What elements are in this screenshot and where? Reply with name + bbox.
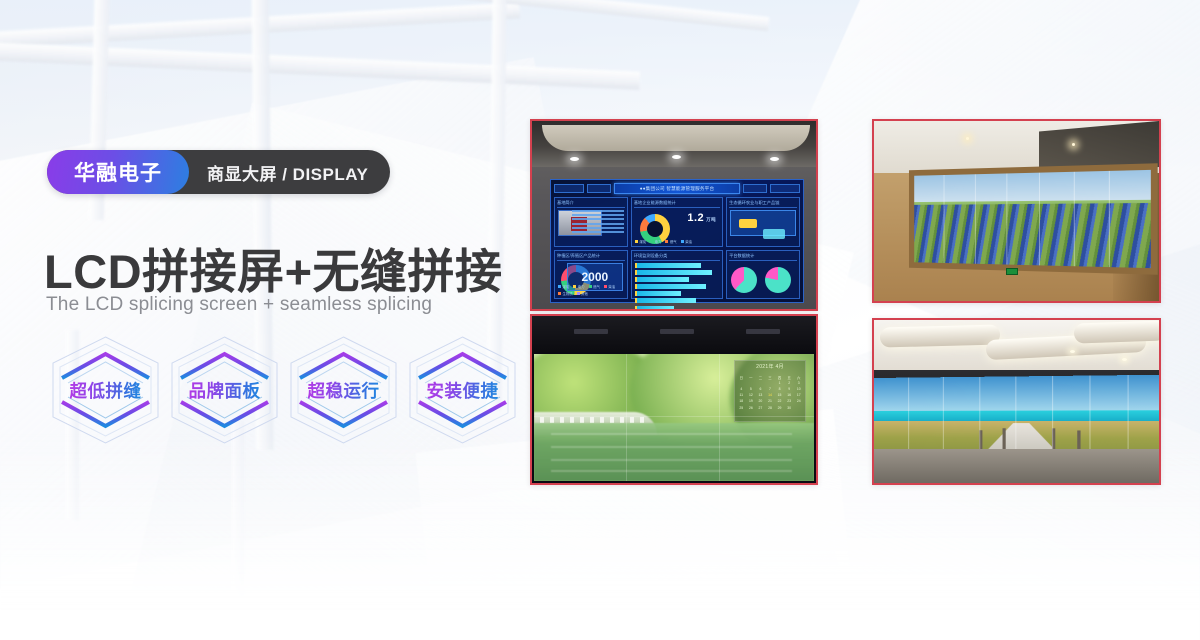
panel-seam: [534, 416, 814, 417]
card-caption: 生态循环农业与职工产品链: [729, 200, 797, 208]
calendar-day: 12: [747, 393, 756, 398]
banner-text-column: 华融电子 商显大屏 / DISPLAY LCD拼接屏+无缝拼接 The LCD …: [0, 0, 530, 640]
calendar-day: 3: [794, 381, 803, 386]
legend-entry: 生物质: [558, 291, 573, 296]
page-title: LCD拼接屏+无缝拼接: [44, 233, 503, 302]
feature-hexagon-1: 超低拼缝: [48, 334, 163, 446]
calendar-widget: 2021年 4月 日 一 二 三 四 五 六: [734, 360, 806, 422]
feature-hexagon-3: 超稳运行: [286, 334, 401, 446]
feature-label: 超稳运行: [308, 378, 380, 403]
legend-entry: 燃气: [589, 284, 600, 289]
calendar-day: [794, 406, 803, 411]
dashboard-card-platform-stats: 平台数据统计: [726, 250, 800, 300]
panel-seams: [914, 170, 1151, 268]
pie-chart-group: [731, 267, 791, 293]
calendar-day: 24: [794, 399, 803, 404]
card-caption: 基地企业能源数据统计: [634, 200, 720, 208]
card-text-lines: [572, 210, 624, 235]
feature-hexagon-2: 品牌面板: [167, 334, 282, 446]
photo-content: ●●集团公司 智慧能源管理服务平台 基地简介 基地企业能源数据统计: [532, 121, 816, 309]
legend-entry: 其他: [577, 291, 588, 296]
downlight-icon: [1122, 358, 1127, 361]
photo-willow-landscape-video-wall[interactable]: 2021年 4月 日 一 二 三 四 五 六: [530, 314, 818, 485]
promo-banner: 华融电子 商显大屏 / DISPLAY LCD拼接屏+无缝拼接 The LCD …: [0, 0, 1200, 640]
calendar-day: 10: [794, 387, 803, 392]
legend-entry: 柴油: [604, 284, 615, 289]
calendar-day: [756, 381, 765, 386]
photo-beach-boardwalk-video-wall[interactable]: [872, 318, 1161, 485]
calendar-day: 17: [794, 393, 803, 398]
chart-legend: 煤炭 电力 燃气 柴油 生物质 其他: [558, 284, 627, 296]
ceiling-downlight-icon: [1072, 143, 1075, 146]
calendar-day: [747, 381, 756, 386]
calendar-day: 26: [747, 406, 756, 411]
calendar-day: 6: [756, 387, 765, 392]
calendar-day: 15: [775, 393, 784, 398]
bar-chart: [635, 263, 719, 310]
water-surface: [534, 423, 814, 481]
downlight-icon: [570, 157, 579, 161]
calendar-day: 8: [775, 387, 784, 392]
calendar-day: 13: [756, 393, 765, 398]
legend-entry: 柴油: [681, 239, 692, 244]
calendar-day: 25: [737, 406, 746, 411]
calendar-day: 5: [747, 387, 756, 392]
photo-solar-farm-video-wall[interactable]: [872, 119, 1161, 303]
downlight-icon: [770, 157, 779, 161]
legend-entry: 煤炭: [635, 239, 646, 244]
calendar-day: 2: [785, 381, 794, 386]
feature-label: 安装便捷: [427, 378, 499, 403]
ceiling-downlight-icon: [966, 137, 969, 140]
cove-light: [880, 324, 1000, 347]
calendar-day: 23: [785, 399, 794, 404]
dashboard-header: ●●集团公司 智慧能源管理服务平台: [554, 183, 800, 194]
feature-label: 超低拼缝: [70, 378, 142, 403]
brand-category-tag: 商显大屏 / DISPLAY: [189, 160, 368, 185]
dashboard-nav-chip: [743, 184, 767, 193]
card-caption: 种植区/养殖区产品统计: [557, 253, 625, 261]
dashboard-card-base-intro: 基地简介: [554, 197, 628, 247]
chart-legend: 煤炭 电力 燃气 柴油: [635, 239, 722, 244]
calendar-day: 1: [775, 381, 784, 386]
dashboard-title: ●●集团公司 智慧能源管理服务平台: [614, 183, 740, 194]
calendar-day: 4: [737, 387, 746, 392]
metric-value: 1.2万吨: [687, 212, 716, 224]
dashboard-card-grid: 基地简介 基地企业能源数据统计 1.2万吨 煤炭: [554, 197, 800, 299]
legend-entry: 电力: [573, 284, 584, 289]
calendar-day: 22: [775, 399, 784, 404]
metric-number: 2000: [581, 270, 608, 284]
photo-content: [874, 320, 1159, 483]
calendar-day: 21: [766, 399, 775, 404]
calendar-day: 29: [775, 406, 784, 411]
photo-content: 2021年 4月 日 一 二 三 四 五 六: [532, 316, 816, 483]
calendar-day: 19: [747, 399, 756, 404]
dashboard-card-device-types: 环境监测设备分类: [631, 250, 723, 300]
pie-chart: [765, 267, 791, 293]
ceiling-cove-light: [542, 125, 810, 151]
exit-sign-icon: [1006, 268, 1018, 275]
wall-top-bezel: [532, 316, 816, 352]
calendar-day: 18: [737, 399, 746, 404]
calendar-day: [737, 381, 746, 386]
landscape-screen: 2021年 4月 日 一 二 三 四 五 六: [534, 354, 814, 481]
feature-hexagon-4: 安装便捷: [405, 334, 520, 446]
calendar-days: 1 2 3 4 5 6 7 8 9 10 11 12 13 14: [737, 381, 803, 411]
calendar-day: 20: [756, 399, 765, 404]
dashboard-nav-chip: [770, 184, 800, 193]
downlight-icon: [1070, 350, 1075, 353]
calendar-day: 16: [785, 393, 794, 398]
photo-content: [874, 121, 1159, 301]
calendar-title: 2021年 4月: [737, 363, 803, 370]
calendar-day: 11: [737, 393, 746, 398]
cove-light: [1074, 320, 1159, 343]
card-caption: 环境监测设备分类: [634, 253, 720, 261]
dashboard-nav-chip: [587, 184, 611, 193]
legend-entry: 电力: [650, 239, 661, 244]
calendar-day-today: 14: [766, 393, 775, 398]
calendar-day: 30: [785, 406, 794, 411]
calendar-day: 27: [756, 406, 765, 411]
legend-entry: 煤炭: [558, 284, 569, 289]
downlight-icon: [672, 155, 681, 159]
video-wall-screen: [914, 170, 1151, 268]
pie-chart: [731, 267, 757, 293]
brand-name: 华融电子: [47, 150, 189, 194]
dashboard-title-text: ●●集团公司 智慧能源管理服务平台: [640, 186, 715, 192]
flow-diagram: [730, 210, 796, 236]
card-caption: 平台数据统计: [729, 253, 797, 261]
dashboard-card-energy-stats: 基地企业能源数据统计 1.2万吨 煤炭 电力 燃气 柴油: [631, 197, 723, 247]
calendar-day: 28: [766, 406, 775, 411]
dashboard-card-eco-chain: 生态循环农业与职工产品链: [726, 197, 800, 247]
floor: [874, 449, 1159, 483]
panel-seam: [719, 354, 720, 481]
card-caption: 基地简介: [557, 200, 625, 208]
dashboard-nav-chip: [554, 184, 584, 193]
photo-control-room-dashboard[interactable]: ●●集团公司 智慧能源管理服务平台 基地简介 基地企业能源数据统计: [530, 119, 818, 311]
dashboard-screen: ●●集团公司 智慧能源管理服务平台 基地简介 基地企业能源数据统计: [550, 179, 804, 303]
calendar-day: 7: [766, 387, 775, 392]
brand-badge: 华融电子 商显大屏 / DISPLAY: [47, 150, 390, 194]
dashboard-card-zone-products: 种植区/养殖区产品统计 2000 煤炭 电力 燃气 柴油 生物质 其他: [554, 250, 628, 300]
video-wall-frame: [909, 163, 1158, 274]
calendar-subtitle: [737, 370, 803, 374]
panel-seam: [626, 354, 627, 481]
page-subtitle: The LCD splicing screen + seamless splic…: [46, 294, 432, 316]
feature-hexagon-list: 超低拼缝 品牌面板: [48, 334, 520, 446]
calendar-day: [766, 381, 775, 386]
calendar-day: 9: [785, 387, 794, 392]
metric-number: 1.2: [687, 212, 704, 224]
feature-label: 品牌面板: [189, 378, 261, 403]
metric-unit: 万吨: [706, 217, 716, 222]
legend-entry: 燃气: [665, 239, 676, 244]
